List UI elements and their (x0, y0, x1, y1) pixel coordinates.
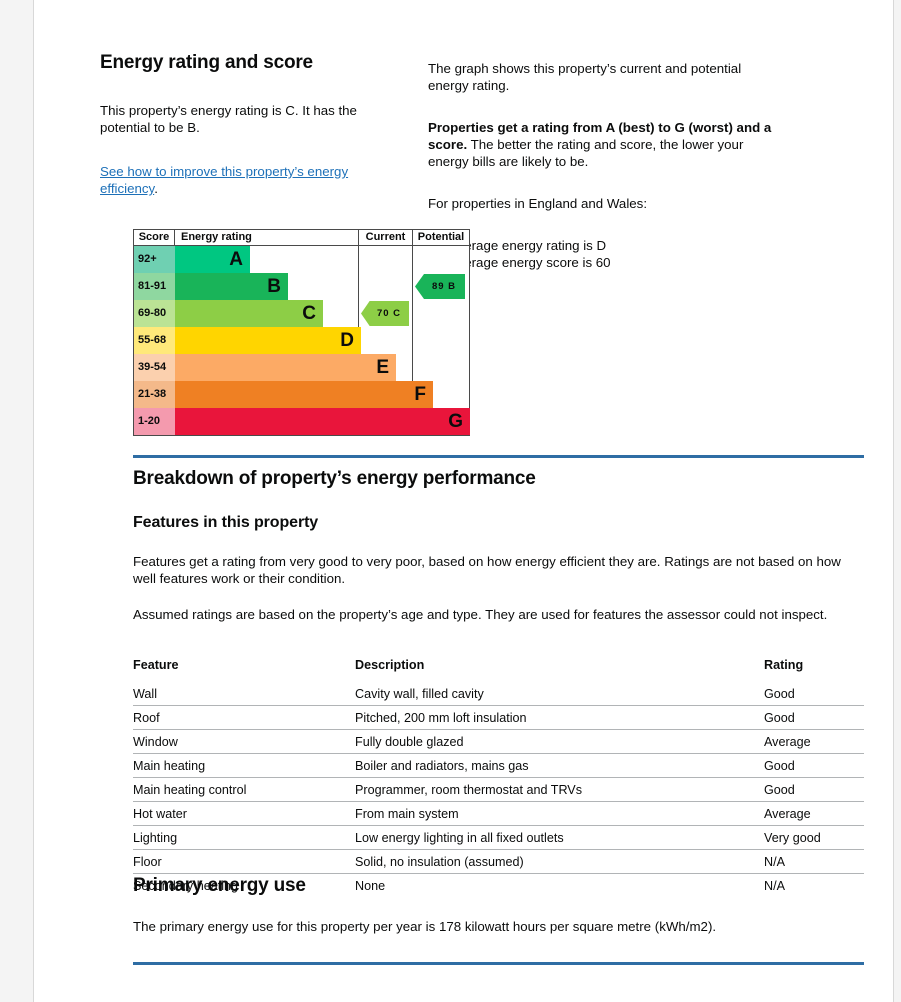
breakdown-section: Breakdown of property’s energy performan… (133, 468, 864, 623)
rating-scale-explainer: Properties get a rating from A (best) to… (428, 119, 773, 170)
cell-feature: Wall (133, 682, 355, 706)
table-row: WallCavity wall, filled cavityGood (133, 682, 864, 706)
features-explainer-1: Features get a rating from very good to … (133, 553, 864, 587)
epc-band-letter: G (448, 411, 463, 433)
epc-band-letter: A (229, 249, 243, 271)
epc-band-letter: E (376, 357, 389, 379)
epc-band-letter: D (340, 330, 354, 352)
document-page: Energy rating and score This property’s … (33, 0, 894, 1002)
energy-rating-right-column: The graph shows this property’s current … (428, 60, 773, 271)
section-divider-bottom (133, 962, 864, 965)
epc-chart-body: 92+A81-91B69-80C55-68D39-54E21-38F1-20G … (134, 246, 469, 436)
cell-description: Fully double glazed (355, 730, 764, 754)
section-divider-top (133, 455, 864, 458)
cell-description: Cavity wall, filled cavity (355, 682, 764, 706)
cell-feature: Roof (133, 706, 355, 730)
table-row: LightingLow energy lighting in all fixed… (133, 826, 864, 850)
cell-rating: Average (764, 730, 864, 754)
epc-band-score-range: 55-68 (134, 327, 175, 354)
energy-rating-summary: This property’s energy rating is C. It h… (100, 102, 400, 136)
epc-band-f: 21-38F (134, 381, 469, 408)
cell-description: Pitched, 200 mm loft insulation (355, 706, 764, 730)
epc-band-bar: A (175, 246, 250, 273)
graph-explainer: The graph shows this property’s current … (428, 60, 773, 94)
epc-potential-marker: 89 B (415, 274, 465, 299)
col-header-rating: Rating (764, 658, 864, 682)
cell-description: From main system (355, 802, 764, 826)
epc-band-bar: C (175, 300, 323, 327)
cell-rating: Good (764, 682, 864, 706)
epc-band-g: 1-20G (134, 408, 469, 435)
cell-rating: Good (764, 754, 864, 778)
region-label: For properties in England and Wales: (428, 195, 773, 212)
table-row: Hot waterFrom main systemAverage (133, 802, 864, 826)
link-trailing-period: . (154, 181, 158, 196)
cell-rating: Good (764, 706, 864, 730)
cell-feature: Window (133, 730, 355, 754)
epc-band-bar: G (175, 408, 470, 435)
features-table-wrapper: Feature Description Rating WallCavity wa… (133, 658, 864, 897)
table-row: Main heatingBoiler and radiators, mains … (133, 754, 864, 778)
features-explainer-2: Assumed ratings are based on the propert… (133, 606, 864, 623)
epc-band-e: 39-54E (134, 354, 469, 381)
epc-band-bar: B (175, 273, 288, 300)
primary-energy-section: Primary energy use The primary energy us… (133, 875, 864, 935)
col-header-description: Description (355, 658, 764, 682)
epc-header-potential: Potential (412, 230, 469, 245)
epc-band-d: 55-68D (134, 327, 469, 354)
cell-rating: N/A (764, 850, 864, 874)
cell-feature: Lighting (133, 826, 355, 850)
features-heading: Features in this property (133, 514, 864, 532)
epc-rating-chart: Score Energy rating Current Potential 92… (133, 229, 470, 436)
page-title: Energy rating and score (100, 52, 400, 74)
epc-band-letter: B (267, 276, 281, 298)
col-header-feature: Feature (133, 658, 355, 682)
features-table-head: Feature Description Rating (133, 658, 864, 682)
table-row: WindowFully double glazedAverage (133, 730, 864, 754)
table-header-row: Feature Description Rating (133, 658, 864, 682)
features-table: Feature Description Rating WallCavity wa… (133, 658, 864, 897)
epc-band-letter: F (414, 384, 426, 406)
improve-efficiency-link[interactable]: See how to improve this property’s energ… (100, 164, 348, 196)
cell-description: Low energy lighting in all fixed outlets (355, 826, 764, 850)
energy-rating-left-column: Energy rating and score This property’s … (100, 52, 400, 197)
epc-header-current: Current (358, 230, 412, 245)
epc-header-score: Score (134, 230, 175, 245)
rating-scale-rest: The better the rating and score, the low… (428, 137, 743, 169)
cell-rating: Very good (764, 826, 864, 850)
breakdown-heading: Breakdown of property’s energy performan… (133, 468, 864, 490)
average-energy-score: the average energy score is 60 (428, 254, 773, 271)
cell-description: Boiler and radiators, mains gas (355, 754, 764, 778)
cell-description: Programmer, room thermostat and TRVs (355, 778, 764, 802)
epc-band-score-range: 1-20 (134, 408, 175, 435)
cell-feature: Main heating control (133, 778, 355, 802)
epc-chart-header: Score Energy rating Current Potential (134, 230, 469, 246)
epc-band-bar: E (175, 354, 396, 381)
epc-band-score-range: 21-38 (134, 381, 175, 408)
epc-band-score-range: 39-54 (134, 354, 175, 381)
table-row: Main heating controlProgrammer, room the… (133, 778, 864, 802)
epc-band-list: 92+A81-91B69-80C55-68D39-54E21-38F1-20G (134, 246, 469, 435)
cell-feature: Floor (133, 850, 355, 874)
epc-band-score-range: 81-91 (134, 273, 175, 300)
epc-band-bar: F (175, 381, 433, 408)
cell-rating: Average (764, 802, 864, 826)
epc-current-marker: 70 C (361, 301, 409, 326)
epc-header-energy-rating: Energy rating (175, 230, 358, 245)
cell-feature: Hot water (133, 802, 355, 826)
epc-band-score-range: 92+ (134, 246, 175, 273)
epc-band-letter: C (302, 303, 316, 325)
primary-energy-heading: Primary energy use (133, 875, 864, 897)
primary-energy-text: The primary energy use for this property… (133, 918, 864, 935)
cell-feature: Main heating (133, 754, 355, 778)
epc-band-a: 92+A (134, 246, 469, 273)
epc-band-score-range: 69-80 (134, 300, 175, 327)
average-energy-rating: the average energy rating is D (428, 237, 773, 254)
epc-band-c: 69-80C (134, 300, 469, 327)
improve-efficiency-paragraph: See how to improve this property’s energ… (100, 163, 400, 197)
features-table-body: WallCavity wall, filled cavityGoodRoofPi… (133, 682, 864, 897)
table-row: RoofPitched, 200 mm loft insulationGood (133, 706, 864, 730)
table-row: FloorSolid, no insulation (assumed)N/A (133, 850, 864, 874)
epc-band-bar: D (175, 327, 361, 354)
cell-rating: Good (764, 778, 864, 802)
cell-description: Solid, no insulation (assumed) (355, 850, 764, 874)
